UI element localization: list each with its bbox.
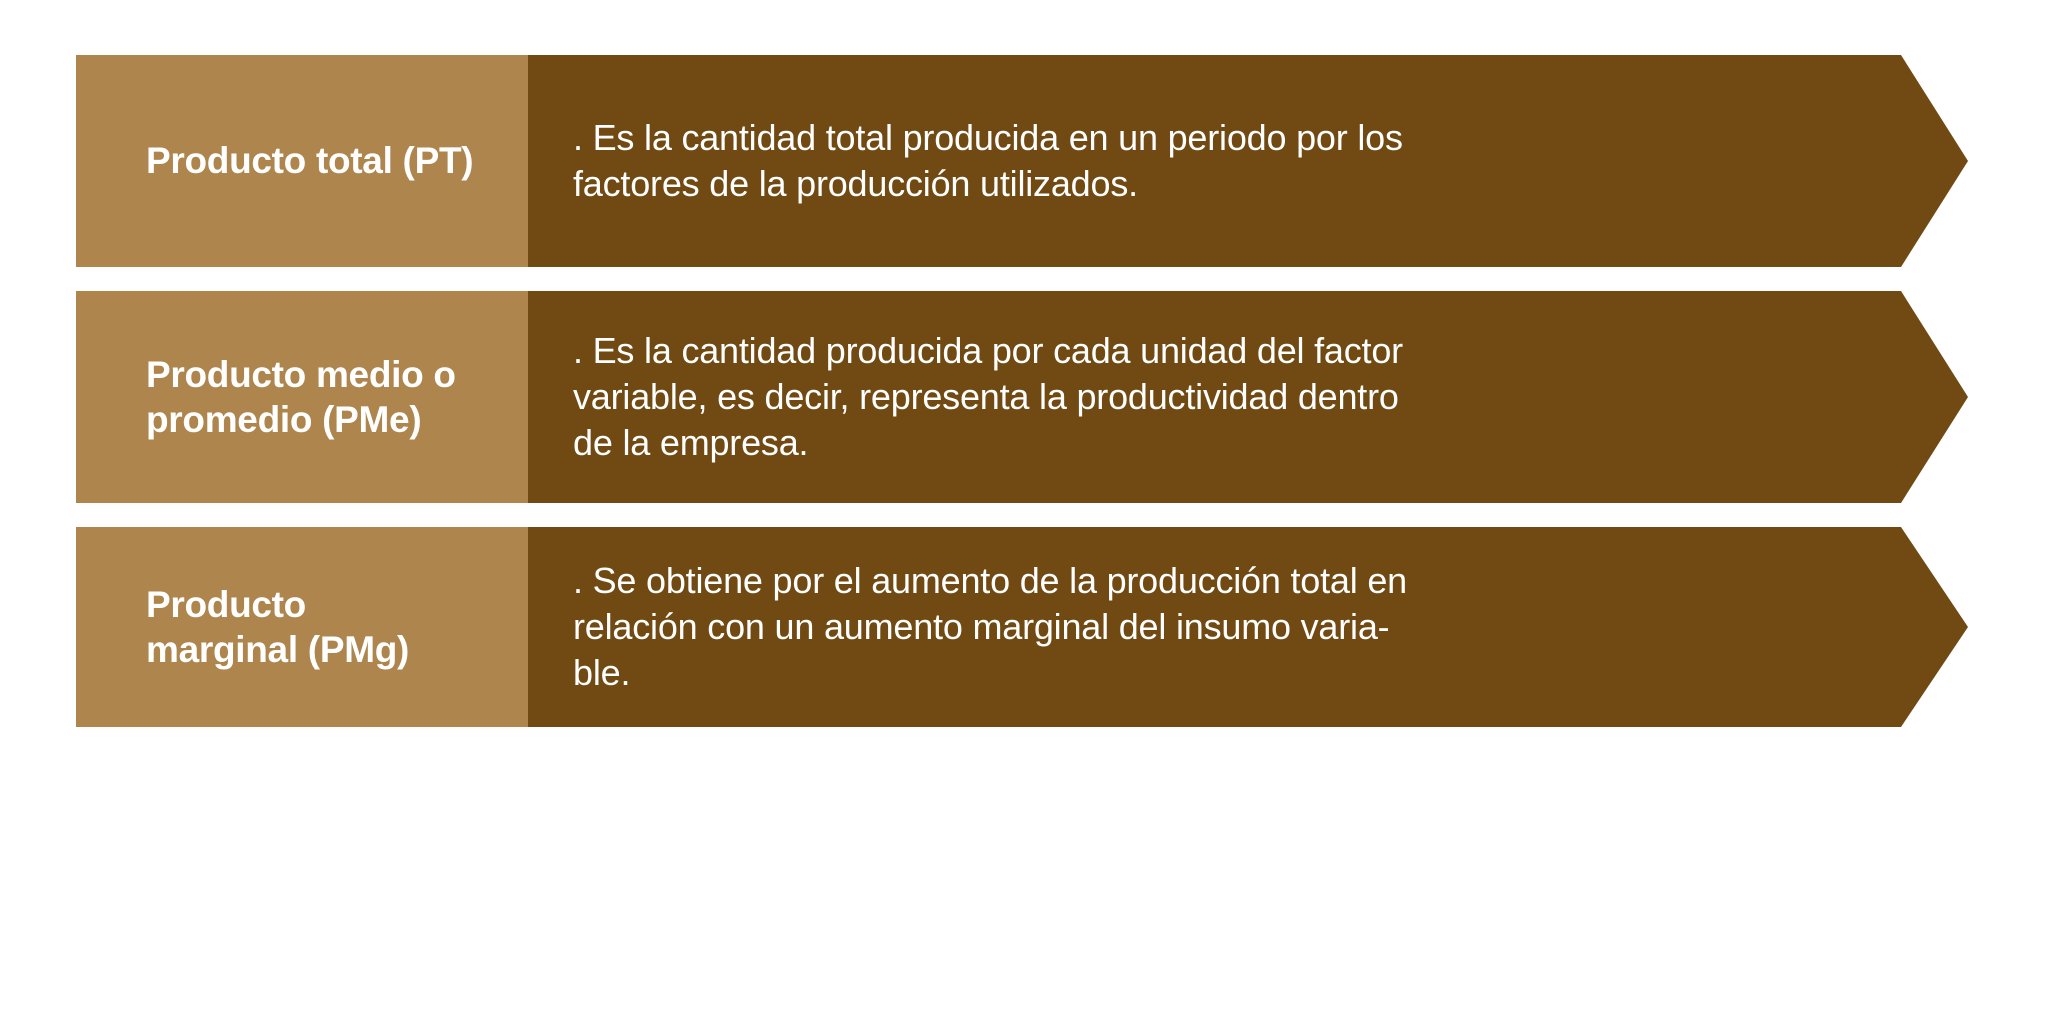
diagram-row-producto-marginal: Producto marginal (PMg) . Se obtiene por… [76,527,1968,727]
row-label-text: Producto total (PT) [146,138,473,183]
production-concepts-diagram: Producto total (PT) . Es la cantidad tot… [0,0,2045,1035]
row-description-text: . Es la cantidad producida por cada unid… [573,328,1403,466]
row-label-text: Producto medio o promedio (PMe) [146,352,456,442]
diagram-row-producto-total: Producto total (PT) . Es la cantidad tot… [76,55,1968,267]
row-description-arrow: . Se obtiene por el aumento de la produc… [528,527,1968,727]
row-label-text: Producto marginal (PMg) [146,582,409,672]
row-label-block: Producto marginal (PMg) [76,527,528,727]
diagram-row-producto-medio: Producto medio o promedio (PMe) . Es la … [76,291,1968,503]
row-description-text: . Es la cantidad total producida en un p… [573,115,1403,207]
row-description-text: . Se obtiene por el aumento de la produc… [573,558,1407,696]
row-label-block: Producto total (PT) [76,55,528,267]
row-description-arrow: . Es la cantidad producida por cada unid… [528,291,1968,503]
row-description-arrow: . Es la cantidad total producida en un p… [528,55,1968,267]
row-label-block: Producto medio o promedio (PMe) [76,291,528,503]
